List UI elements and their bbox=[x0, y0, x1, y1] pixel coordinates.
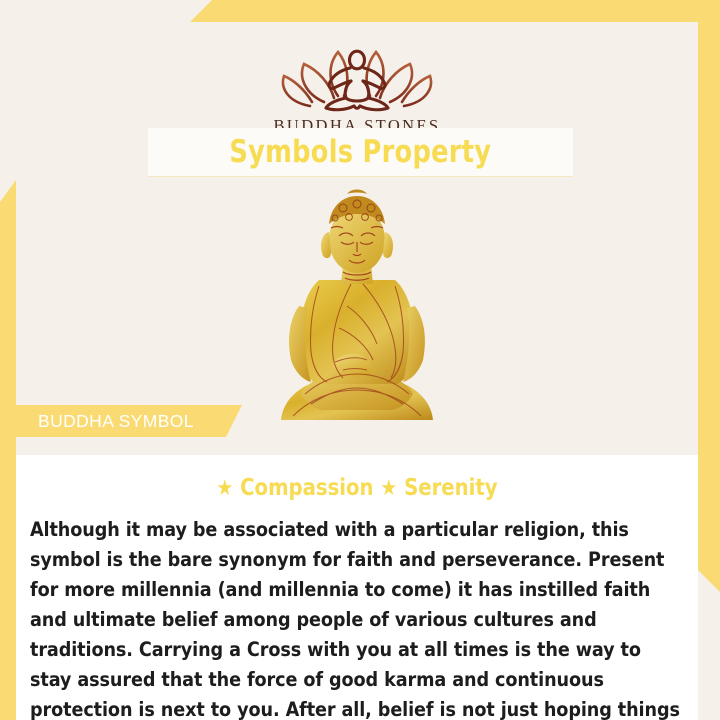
frame-band-right bbox=[698, 0, 720, 592]
category-ribbon-label: BUDDHA SYMBOL bbox=[38, 411, 194, 432]
description-panel: ★ Compassion ★ Serenity Although it may … bbox=[16, 455, 698, 720]
product-info-poster: BUDDHA STONES Symbols Property bbox=[0, 0, 720, 720]
attributes-heading: ★ Compassion ★ Serenity bbox=[33, 475, 681, 501]
seated-golden-buddha-statue-illustration bbox=[259, 188, 455, 420]
brand-logo: BUDDHA STONES bbox=[16, 40, 698, 136]
page-title-band: Symbols Property bbox=[148, 128, 573, 176]
category-ribbon: BUDDHA SYMBOL bbox=[16, 405, 242, 437]
frame-band-left bbox=[0, 180, 16, 720]
page-title: Symbols Property bbox=[230, 134, 492, 170]
lotus-meditation-figure-icon bbox=[272, 40, 442, 112]
description-paragraph: Although it may be associated with a par… bbox=[30, 515, 684, 720]
star-icon-left: ★ bbox=[216, 476, 233, 501]
frame-band-top bbox=[190, 0, 720, 22]
attribute-serenity: Serenity bbox=[404, 475, 497, 501]
star-icon-right: ★ bbox=[380, 476, 397, 501]
attribute-compassion: Compassion bbox=[240, 475, 373, 501]
poster-stage: BUDDHA STONES Symbols Property bbox=[16, 22, 698, 720]
hero-image bbox=[16, 180, 698, 420]
